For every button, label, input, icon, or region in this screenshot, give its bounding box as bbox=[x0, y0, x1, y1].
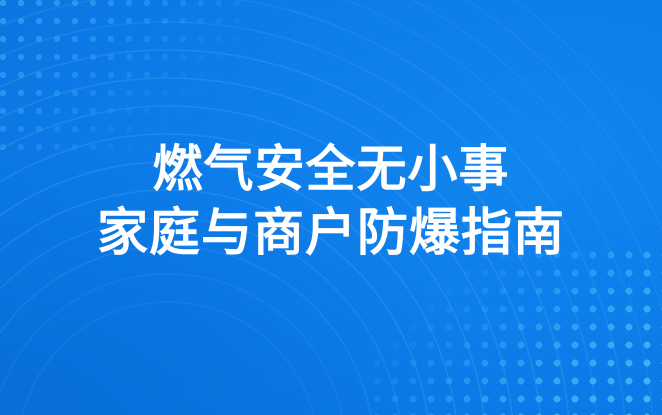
headline-line-2: 家庭与商户防爆指南 bbox=[0, 200, 662, 266]
gas-safety-banner: 燃气安全无小事 家庭与商户防爆指南 bbox=[0, 0, 662, 415]
dot-pattern-bottom-right bbox=[368, 246, 662, 415]
headline-line-1: 燃气安全无小事 bbox=[0, 138, 662, 200]
headline-block: 燃气安全无小事 家庭与商户防爆指南 bbox=[0, 138, 662, 266]
dot-pattern-top-left bbox=[0, 0, 244, 154]
